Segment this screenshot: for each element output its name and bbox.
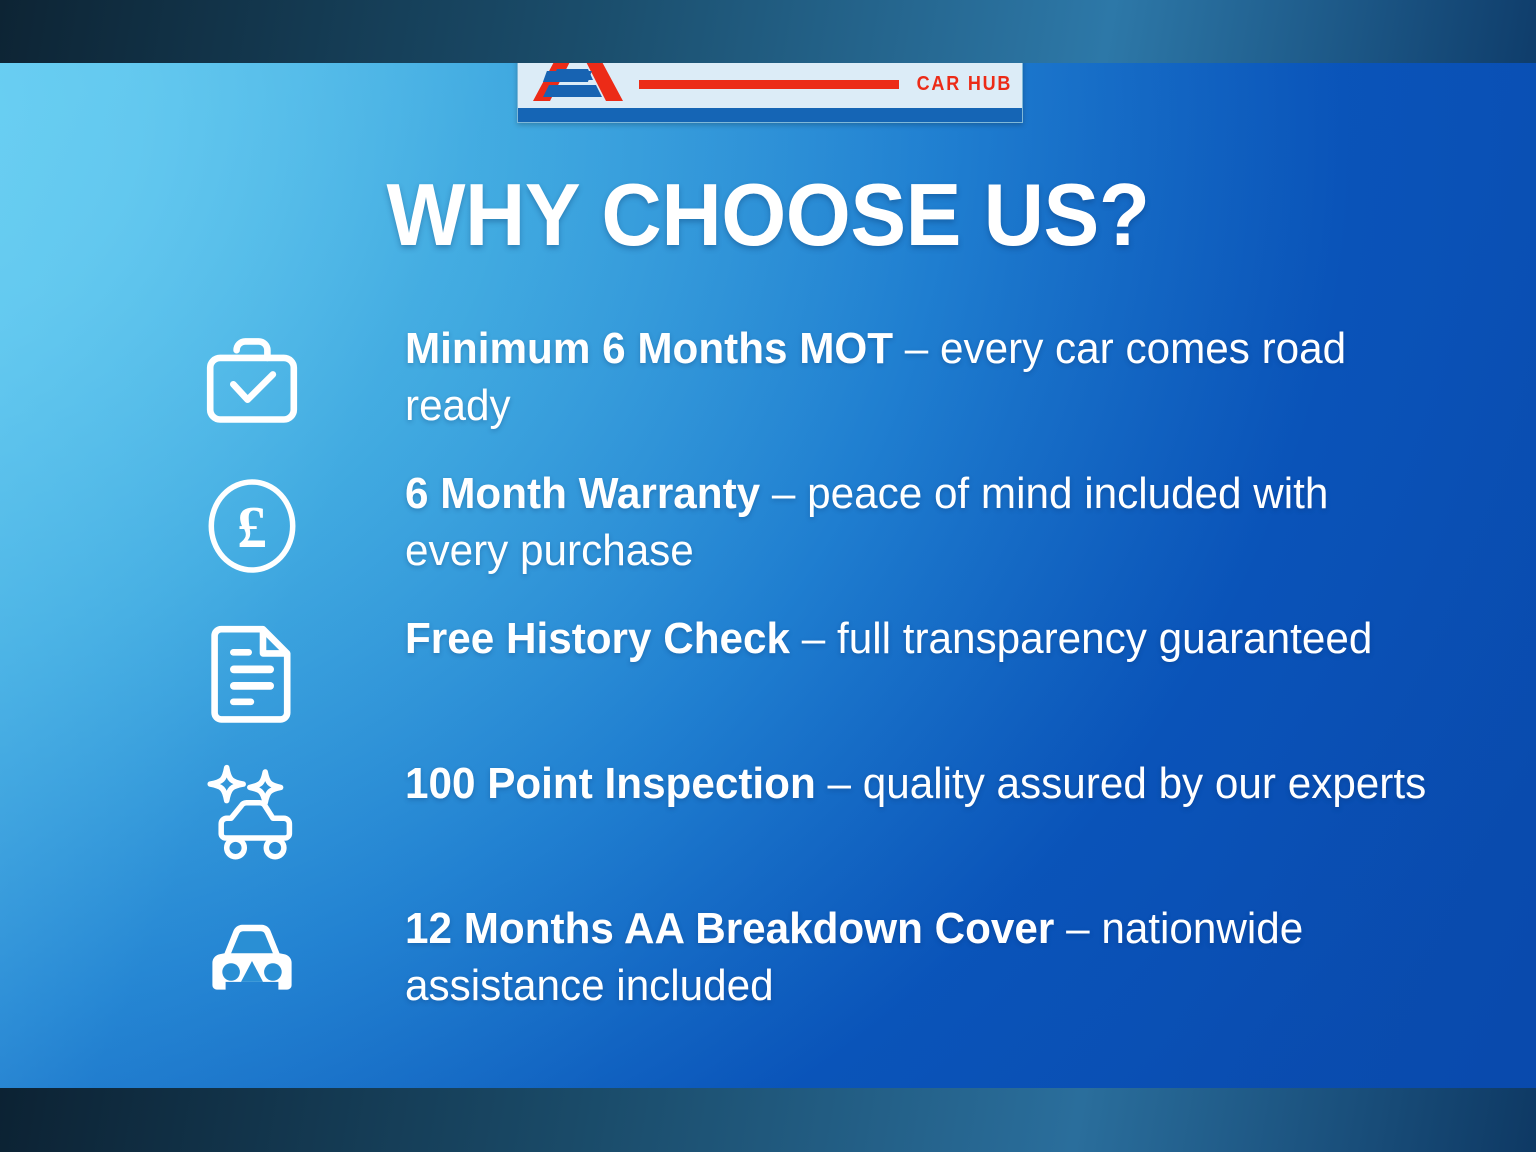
feature-rest: – quality assured by our experts <box>816 759 1426 808</box>
feature-text: Minimum 6 Months MOT – every car comes r… <box>405 320 1491 434</box>
feature-rest: – full transparency guaranteed <box>790 614 1372 663</box>
pound-coin-icon: £ <box>196 471 308 581</box>
briefcase-check-icon <box>196 326 308 436</box>
feature-text: Free History Check – full transparency g… <box>405 610 1430 667</box>
list-item: 12 Months AA Breakdown Cover – nationwid… <box>0 900 1536 1042</box>
feature-text: 6 Month Warranty – peace of mind include… <box>405 465 1491 579</box>
brand-rule <box>639 80 899 89</box>
feature-lead: Minimum 6 Months MOT <box>405 324 893 373</box>
feature-lead: 100 Point Inspection <box>405 759 816 808</box>
feature-lead: Free History Check <box>405 614 790 663</box>
feature-lead: 12 Months AA Breakdown Cover <box>405 904 1054 953</box>
svg-text:£: £ <box>237 494 267 560</box>
car-front-icon <box>196 906 308 1016</box>
feature-lead: 6 Month Warranty <box>405 469 760 518</box>
feature-text: 100 Point Inspection – quality assured b… <box>405 755 1484 812</box>
feature-list: Minimum 6 Months MOT – every car comes r… <box>0 320 1536 1045</box>
logo-bottom-bar <box>518 108 1022 122</box>
promo-poster: SOLHEBON CAR HUB WHY CHOOSE US? <box>0 0 1536 1152</box>
page-title: WHY CHOOSE US? <box>38 167 1497 263</box>
brand-tagline: CAR HUB <box>916 73 1012 96</box>
sparkle-car-icon <box>196 761 308 871</box>
list-item: Minimum 6 Months MOT – every car comes r… <box>0 320 1536 462</box>
brand-tagline-row: CAR HUB <box>639 73 1012 96</box>
letterbox-band-bottom <box>0 1088 1536 1152</box>
feature-text: 12 Months AA Breakdown Cover – nationwid… <box>405 900 1491 1014</box>
list-item: £ 6 Month Warranty – peace of mind inclu… <box>0 465 1536 607</box>
list-item: 100 Point Inspection – quality assured b… <box>0 755 1536 897</box>
letterbox-band-top <box>0 0 1536 63</box>
poster-content: SOLHEBON CAR HUB WHY CHOOSE US? <box>0 0 1536 1025</box>
list-item: Free History Check – full transparency g… <box>0 610 1536 752</box>
document-lines-icon <box>196 616 308 726</box>
